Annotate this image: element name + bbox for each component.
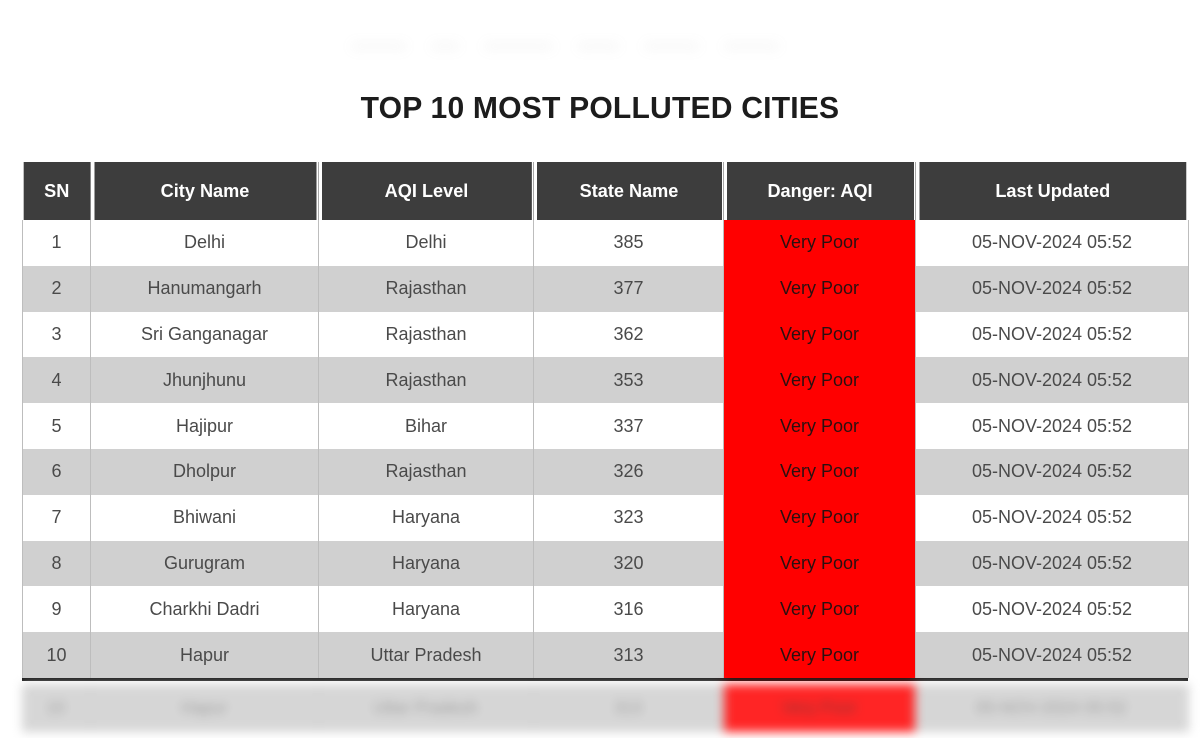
table-row: 3 Sri Ganganagar Rajasthan 362 Very Poor… — [23, 312, 1189, 358]
table-row: 5 Hajipur Bihar 337 Very Poor 05-NOV-202… — [23, 403, 1189, 449]
cell-danger: Very Poor — [724, 220, 916, 266]
cell-updated: 05-NOV-2024 05:52 — [915, 684, 1188, 732]
cell-city: Hanumangarh — [91, 266, 319, 312]
cell-sn: 1 — [23, 220, 91, 266]
table-row: 9 Charkhi Dadri Haryana 316 Very Poor 05… — [23, 586, 1189, 632]
cell-updated: 05-NOV-2024 05:52 — [916, 632, 1189, 678]
cell-danger: Very Poor — [724, 541, 916, 587]
cell-state: 337 — [534, 403, 724, 449]
blurred-text-segment: ————— — [485, 38, 553, 53]
cell-aqi: Haryana — [319, 495, 534, 541]
column-header-state-name: State Name — [535, 162, 721, 220]
cell-updated: 05-NOV-2024 05:52 — [916, 449, 1189, 495]
blurred-text-segment: —— — [432, 38, 459, 53]
cell-state: 320 — [534, 541, 724, 587]
cell-city: Hapur — [90, 684, 318, 732]
table-row: 6 Dholpur Rajasthan 326 Very Poor 05-NOV… — [23, 449, 1189, 495]
cell-aqi: Delhi — [319, 220, 534, 266]
cell-aqi: Haryana — [319, 586, 534, 632]
cell-sn: 10 — [22, 684, 90, 732]
table-row: 2 Hanumangarh Rajasthan 377 Very Poor 05… — [23, 266, 1189, 312]
cell-sn: 3 — [23, 312, 91, 358]
cell-aqi: Rajasthan — [319, 266, 534, 312]
column-header-sn: SN — [23, 162, 90, 220]
cell-aqi: Rajasthan — [319, 312, 534, 358]
cell-aqi: Uttar Pradesh — [318, 684, 533, 732]
cell-state: 313 — [533, 684, 723, 732]
cell-city: Delhi — [91, 220, 319, 266]
blurred-text-segment: ——— — [579, 38, 620, 53]
page-title: TOP 10 MOST POLLUTED CITIES — [18, 90, 1182, 126]
cell-danger: Very Poor — [724, 495, 916, 541]
cell-state: 323 — [534, 495, 724, 541]
cell-state: 362 — [534, 312, 724, 358]
cell-danger: Very Poor — [724, 632, 916, 678]
cell-city: Hapur — [91, 632, 319, 678]
cell-sn: 6 — [23, 449, 91, 495]
blurred-bottom-row: 10 Hapur Uttar Pradesh 313 Very Poor 05-… — [0, 684, 1200, 734]
cell-city: Dholpur — [91, 449, 319, 495]
cell-sn: 4 — [23, 357, 91, 403]
cell-city: Gurugram — [91, 541, 319, 587]
blurred-row-table: 10 Hapur Uttar Pradesh 313 Very Poor 05-… — [22, 684, 1189, 732]
cell-danger: Very Poor — [724, 449, 916, 495]
cell-sn: 10 — [23, 632, 91, 678]
cell-updated: 05-NOV-2024 05:52 — [916, 266, 1189, 312]
aqi-table-container: SN City Name AQI Level State Name Danger… — [22, 162, 1188, 681]
cell-updated: 05-NOV-2024 05:52 — [916, 312, 1189, 358]
cell-aqi: Bihar — [319, 403, 534, 449]
cell-updated: 05-NOV-2024 05:52 — [916, 357, 1189, 403]
cell-danger: Very Poor — [724, 312, 916, 358]
cell-sn: 2 — [23, 266, 91, 312]
cell-updated: 05-NOV-2024 05:52 — [916, 495, 1189, 541]
table-header-row: SN City Name AQI Level State Name Danger… — [23, 162, 1189, 220]
blurred-text-segment: ———— — [725, 38, 779, 53]
cell-city: Jhunjhunu — [91, 357, 319, 403]
blurred-top-strip: ———— —— ————— ——— ———— ———— — [352, 34, 892, 56]
cell-state: 313 — [534, 632, 724, 678]
cell-danger: Very Poor — [724, 403, 916, 449]
cell-updated: 05-NOV-2024 05:52 — [916, 220, 1189, 266]
cell-state: 326 — [534, 449, 724, 495]
cell-aqi: Rajasthan — [319, 449, 534, 495]
cell-city: Charkhi Dadri — [91, 586, 319, 632]
cell-city: Sri Ganganagar — [91, 312, 319, 358]
table-row: 7 Bhiwani Haryana 323 Very Poor 05-NOV-2… — [23, 495, 1189, 541]
cell-sn: 8 — [23, 541, 91, 587]
column-header-last-updated: Last Updated — [918, 162, 1186, 220]
cell-state: 385 — [534, 220, 724, 266]
cell-danger: Very Poor — [724, 586, 916, 632]
table-row: 10 Hapur Uttar Pradesh 313 Very Poor 05-… — [23, 632, 1189, 678]
table-row: 8 Gurugram Haryana 320 Very Poor 05-NOV-… — [23, 541, 1189, 587]
cell-aqi: Haryana — [319, 541, 534, 587]
table-body: 1 Delhi Delhi 385 Very Poor 05-NOV-2024 … — [23, 220, 1189, 678]
column-header-aqi-level: AQI Level — [321, 162, 532, 220]
blurred-text-segment: ———— — [352, 38, 406, 53]
cell-sn: 7 — [23, 495, 91, 541]
cell-danger: Very Poor — [724, 266, 916, 312]
cell-updated: 05-NOV-2024 05:52 — [916, 586, 1189, 632]
cell-sn: 5 — [23, 403, 91, 449]
cell-sn: 9 — [23, 586, 91, 632]
column-header-city-name: City Name — [93, 162, 316, 220]
cell-aqi: Uttar Pradesh — [319, 632, 534, 678]
table-row: 1 Delhi Delhi 385 Very Poor 05-NOV-2024 … — [23, 220, 1189, 266]
cell-city: Hajipur — [91, 403, 319, 449]
blurred-text-segment: ———— — [645, 38, 699, 53]
table-row: 10 Hapur Uttar Pradesh 313 Very Poor 05-… — [22, 684, 1188, 732]
cell-city: Bhiwani — [91, 495, 319, 541]
cell-state: 353 — [534, 357, 724, 403]
most-polluted-cities-table: SN City Name AQI Level State Name Danger… — [22, 162, 1189, 678]
table-row: 4 Jhunjhunu Rajasthan 353 Very Poor 05-N… — [23, 357, 1189, 403]
column-header-danger-aqi: Danger: AQI — [725, 162, 913, 220]
cell-danger: Very Poor — [724, 357, 916, 403]
cell-updated: 05-NOV-2024 05:52 — [916, 403, 1189, 449]
cell-state: 316 — [534, 586, 724, 632]
cell-state: 377 — [534, 266, 724, 312]
cell-updated: 05-NOV-2024 05:52 — [916, 541, 1189, 587]
cell-aqi: Rajasthan — [319, 357, 534, 403]
cell-danger: Very Poor — [723, 684, 915, 732]
